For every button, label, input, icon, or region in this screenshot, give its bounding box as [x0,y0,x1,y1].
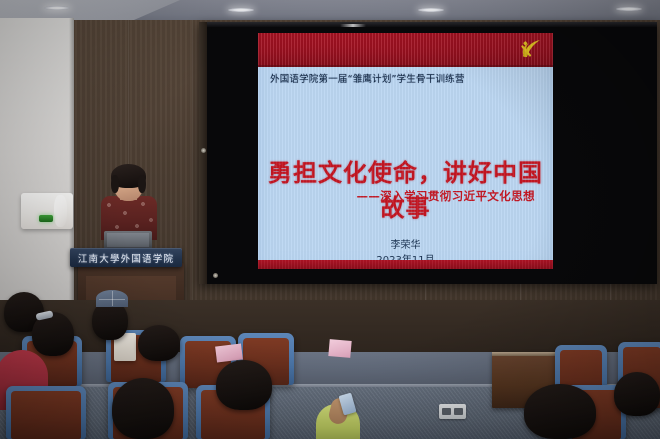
slide-bottom-band [258,260,553,269]
ceiling-downlight [616,7,642,11]
podium-sign-text: 江南大學外国语学院 [78,251,174,265]
slide-speaker-name: 李荣华 [258,239,553,253]
audience-cap [96,290,128,307]
projector-scanlines [258,33,553,269]
outlet-socket-icon [454,408,463,415]
outlet-socket-icon [442,408,451,415]
audience-head [216,360,272,410]
slide-subtitle: ——深入学习贯彻习近平文化思想 [357,188,536,204]
wall-mounted-unit [21,193,73,229]
podium-name-sign: 江南大學外国语学院 [70,248,182,267]
cap-seam [99,299,125,300]
screen-left-bezel [199,22,207,284]
hammer-and-sickle-emblem [518,36,544,62]
screen-mount-bolt [213,273,218,278]
laptop-screen [107,233,149,247]
seat-handout [328,339,351,358]
screen-frame-glint [340,24,366,27]
audience-head [614,372,660,416]
ceiling-downlight [44,6,70,10]
audience-head [524,384,596,439]
screen-mount-bolt [201,148,206,153]
wall-panel-seam [192,20,193,320]
wall-unit-highlight [54,195,67,227]
status-led-icon [39,215,53,222]
seat-backrest [11,391,81,439]
presenter-hair-side [138,175,146,193]
ceiling-downlight [418,8,444,12]
screen-top-frame [199,22,657,27]
ceiling-downlight [228,8,254,12]
slide-header-text: 外国语学院第一届“雏鹰计划”学生骨干训练营 [270,74,530,86]
presenter-hair-side [111,175,119,193]
lecture-hall-photo: 外国语学院第一届“雏鹰计划”学生骨干训练营 勇担文化使命，讲好中国故事 ——深入… [0,0,660,439]
wall-power-outlet [439,404,466,419]
auditorium-seat [6,386,86,439]
slide-red-banner [258,33,553,65]
white-wall [0,18,74,318]
presentation-slide: 外国语学院第一届“雏鹰计划”学生骨干训练营 勇担文化使命，讲好中国故事 ——深入… [258,33,553,269]
audience-head [138,325,180,361]
slide-banner-underline [258,65,553,67]
audience-head [112,378,174,439]
